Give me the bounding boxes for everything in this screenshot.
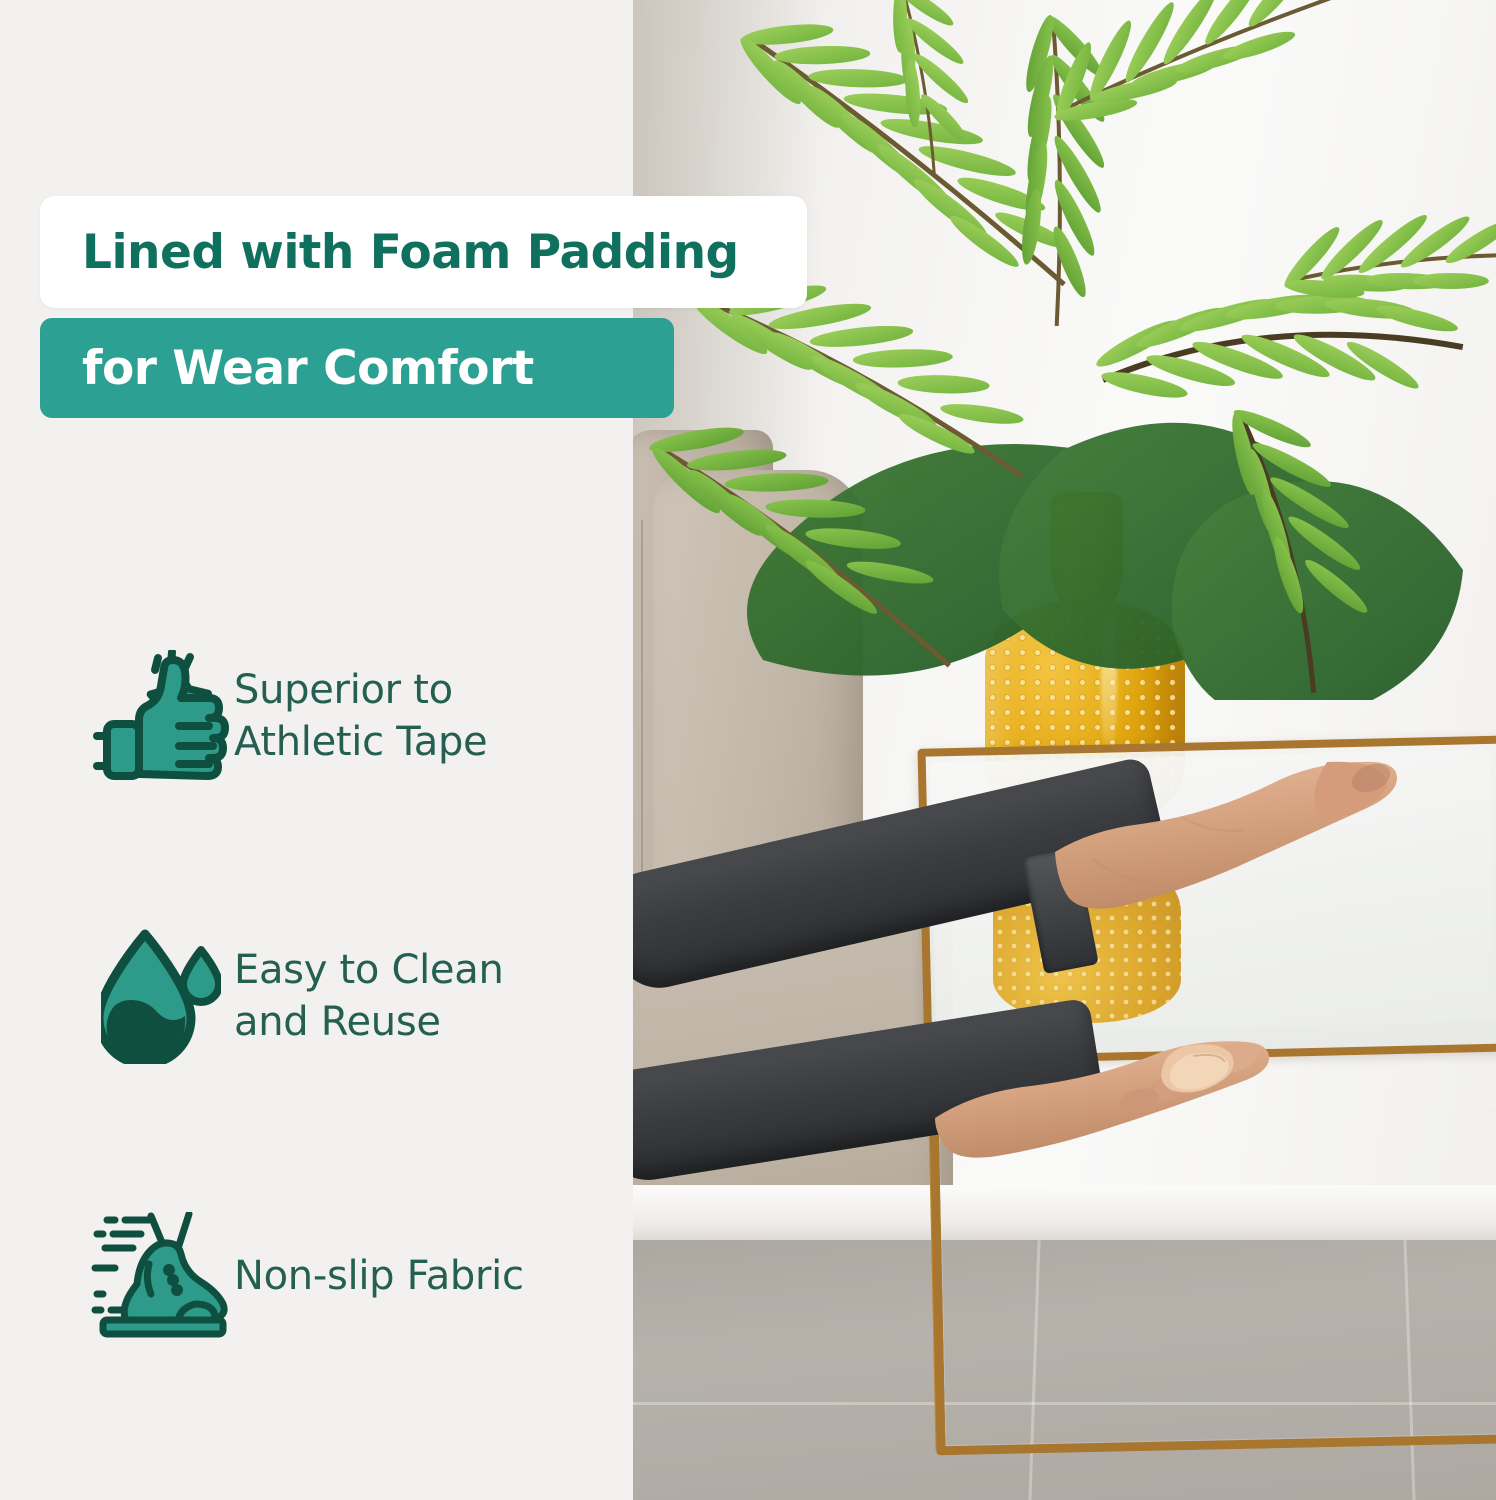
feature-item-easy-to-clean-and-reuse: Easy to Clean and Reuse <box>88 856 608 1136</box>
feature-list: Superior to Athletic Tape Easy to Clean … <box>88 576 608 1416</box>
product-feature-card: Lined with Foam Padding for Wear Comfort <box>0 0 1496 1500</box>
feature-item-non-slip-fabric: Non-slip Fabric <box>88 1136 608 1416</box>
feature-label: Superior to Athletic Tape <box>234 664 487 768</box>
feature-item-superior-to-athletic-tape: Superior to Athletic Tape <box>88 576 608 856</box>
lower-foot-with-toe-wrap <box>933 1040 1283 1190</box>
running-shoe-icon <box>88 1206 234 1346</box>
headline-line1-text: Lined with Foam Padding <box>40 225 739 280</box>
headline-line1-box: Lined with Foam Padding <box>40 196 807 308</box>
headline-line2-text: for Wear Comfort <box>40 341 534 396</box>
palm-plant <box>633 0 1496 700</box>
feature-label: Easy to Clean and Reuse <box>234 944 504 1048</box>
thumbs-up-star-icon <box>88 646 234 786</box>
feature-label: Non-slip Fabric <box>234 1250 524 1302</box>
headline-line2-box: for Wear Comfort <box>40 318 674 418</box>
upper-foot <box>1053 760 1408 940</box>
water-drop-icon <box>88 926 234 1066</box>
